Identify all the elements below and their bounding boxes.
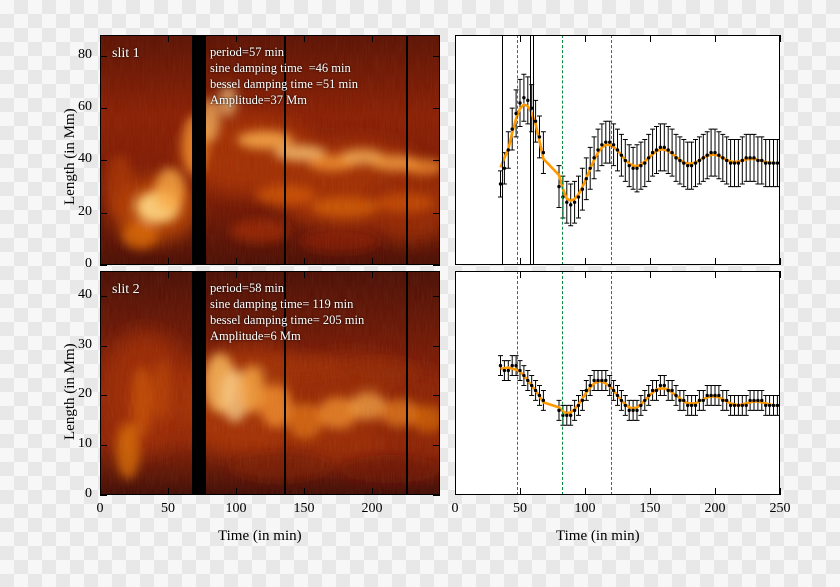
slit2-plot-xtick-0 <box>455 488 456 495</box>
slit1-image-xtick-0 <box>100 258 101 265</box>
image-xtick-label-50: 50 <box>161 501 175 517</box>
plot-xtick-label-100: 100 <box>575 501 596 517</box>
slit2-annotation-line-1: sine damping time= 119 min <box>210 297 353 313</box>
slit1-image-ytick-20 <box>100 213 107 214</box>
slit1-image-ytick-label-80: 80 <box>78 47 92 63</box>
slit1-image-xtick-top-100 <box>236 35 237 42</box>
slit2-plot-xtick-top-100 <box>585 271 586 278</box>
slit2-plot-xtick-top-50 <box>520 271 521 278</box>
slit1-annotation-line-3: Amplitude=37 Mm <box>210 93 307 109</box>
slit1-image-ytick-right-80 <box>433 56 440 57</box>
slit2-image-ytick-label-20: 20 <box>78 386 92 402</box>
slit2-image-ytick-0 <box>100 495 107 496</box>
slit2-image-xtick-top-50 <box>168 271 169 278</box>
slit2-plot-frame <box>455 271 780 495</box>
slit1-image-ytick-right-20 <box>433 213 440 214</box>
image-xtick-label-100: 100 <box>226 501 247 517</box>
image-xtick-label-0: 0 <box>97 501 104 517</box>
slit2-image-ytick-label-10: 10 <box>78 436 92 452</box>
slit2-image-ytick-label-40: 40 <box>78 287 92 303</box>
slit1-plot-xtick-150 <box>650 258 651 265</box>
slit2-annotation-line-0: period=58 min <box>210 281 284 297</box>
slit1-image-xtick-50 <box>168 258 169 265</box>
slit1-image-ytick-right-60 <box>433 108 440 109</box>
slit1-annotation-line-0: period=57 min <box>210 45 284 61</box>
slit2-image-xtick-top-200 <box>372 271 373 278</box>
slit2-plot-xtick-150 <box>650 488 651 495</box>
slit1-image-ytick-right-40 <box>433 160 440 161</box>
slit1-image-xtick-200 <box>372 258 373 265</box>
slit2-image-xtick-top-100 <box>236 271 237 278</box>
slit2-image-xtick-100 <box>236 488 237 495</box>
plot-xtick-label-200: 200 <box>705 501 726 517</box>
slit1-plot-xtick-0 <box>455 258 456 265</box>
slit2-plot-xtick-top-200 <box>715 271 716 278</box>
slit2-image-ytick-label-0: 0 <box>85 486 92 502</box>
slit2-plot-xtick-top-150 <box>650 271 651 278</box>
slit2-label: slit 2 <box>112 282 140 298</box>
slit1-image-ytick-80 <box>100 56 107 57</box>
slit1-image-ytick-label-0: 0 <box>85 256 92 272</box>
slit1-plot-xtick-50 <box>520 258 521 265</box>
slit2-plot-xtick-250 <box>780 488 781 495</box>
slit2-image-ytick-30 <box>100 346 107 347</box>
slit2-plot-xtick-50 <box>520 488 521 495</box>
image-xtick-label-150: 150 <box>294 501 315 517</box>
slit2-plot-xtick-200 <box>715 488 716 495</box>
slit1-image-xtick-top-200 <box>372 35 373 42</box>
slit1-plot-xtick-top-50 <box>520 35 521 42</box>
slit2-plot-xtick-top-0 <box>455 271 456 278</box>
slit2-plot-xtick-100 <box>585 488 586 495</box>
slit2-image-ytick-right-20 <box>433 395 440 396</box>
slit1-image-ytick-0 <box>100 265 107 266</box>
slit1-image-ytick-60 <box>100 108 107 109</box>
slit1-image-xtick-100 <box>236 258 237 265</box>
slit1-plot-xlabel: Time (in min) <box>556 528 640 545</box>
slit2-image-ytick-10 <box>100 445 107 446</box>
slit1-image-ylabel: Length (in Mm) <box>62 108 79 205</box>
slit1-image-xlabel: Time (in min) <box>218 528 302 545</box>
slit1-image-ytick-40 <box>100 160 107 161</box>
slit2-image-ytick-right-10 <box>433 445 440 446</box>
slit1-image-xtick-top-0 <box>100 35 101 42</box>
image-xtick-label-200: 200 <box>362 501 383 517</box>
slit1-label: slit 1 <box>112 46 140 62</box>
slit1-plot-xtick-top-150 <box>650 35 651 42</box>
slit1-image-xtick-top-150 <box>304 35 305 42</box>
plot-xtick-label-250: 250 <box>770 501 791 517</box>
slit1-plot-xtick-top-250 <box>780 35 781 42</box>
plot-xtick-label-150: 150 <box>640 501 661 517</box>
slit1-plot-xtick-top-200 <box>715 35 716 42</box>
slit1-plot-xtick-200 <box>715 258 716 265</box>
slit2-image-ytick-right-0 <box>433 495 440 496</box>
slit2-image-ytick-40 <box>100 296 107 297</box>
slit1-image-ytick-label-40: 40 <box>78 151 92 167</box>
slit1-image-ytick-label-20: 20 <box>78 204 92 220</box>
slit1-image-ytick-label-60: 60 <box>78 99 92 115</box>
figure-canvas: slit 1 period=57 min sine damping time =… <box>0 0 840 587</box>
slit1-plot-frame <box>455 35 780 265</box>
slit2-plot-xtick-top-250 <box>780 271 781 278</box>
slit1-plot-xtick-top-100 <box>585 35 586 42</box>
slit1-plot-xtick-100 <box>585 258 586 265</box>
slit2-annotation-line-3: Amplitude=6 Mm <box>210 329 301 345</box>
slit1-plot-xtick-top-0 <box>455 35 456 42</box>
slit1-image-xtick-150 <box>304 258 305 265</box>
slit2-annotation-line-2: bessel damping time= 205 min <box>210 313 364 329</box>
slit2-image-ytick-label-30: 30 <box>78 337 92 353</box>
slit1-plot-xtick-250 <box>780 258 781 265</box>
slit2-image-xtick-50 <box>168 488 169 495</box>
slit2-image-xtick-200 <box>372 488 373 495</box>
slit2-image-xtick-0 <box>100 488 101 495</box>
slit1-image-ytick-right-0 <box>433 265 440 266</box>
slit1-annotation-line-1: sine damping time =46 min <box>210 61 351 77</box>
slit2-image-ytick-right-40 <box>433 296 440 297</box>
slit2-image-xtick-top-150 <box>304 271 305 278</box>
slit2-image-xtick-top-0 <box>100 271 101 278</box>
plot-xtick-label-0: 0 <box>452 501 459 517</box>
slit2-image-ytick-20 <box>100 395 107 396</box>
plot-xtick-label-50: 50 <box>513 501 527 517</box>
slit1-annotation-line-2: bessel damping time =51 min <box>210 77 358 93</box>
slit2-image-ytick-right-30 <box>433 346 440 347</box>
slit1-image-xtick-top-50 <box>168 35 169 42</box>
slit2-image-ylabel: Length (in Mm) <box>62 343 79 440</box>
slit2-image-xtick-150 <box>304 488 305 495</box>
